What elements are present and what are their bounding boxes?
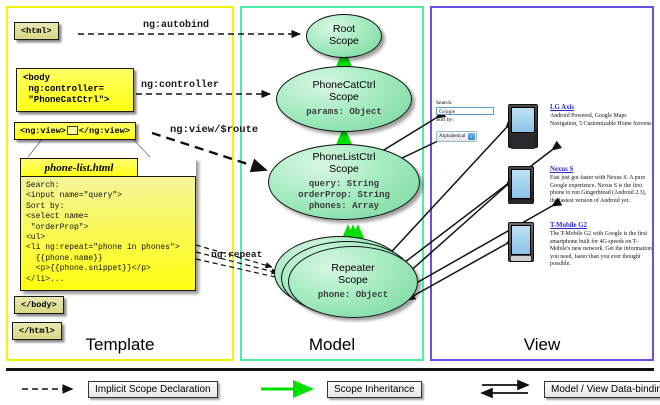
phone-thumbnail-t-mobile-g2 — [508, 222, 534, 262]
scope-repeater-line1: Repeater — [331, 262, 374, 274]
scope-repeater-line2: Scope — [338, 274, 368, 286]
phone-name-link[interactable]: T-Mobile G2 — [550, 222, 654, 229]
legend: Implicit Scope Declaration Scope Inherit… — [6, 378, 654, 400]
note-title: phone-list.html — [20, 158, 138, 176]
sort-select[interactable]: Alphabetical ↕ — [436, 131, 477, 142]
scope-phonecatctrl: PhoneCatCtrl Scope params: Object — [276, 66, 412, 132]
legend-label-implicit-scope: Implicit Scope Declaration — [88, 381, 218, 398]
phone-snippet: Fast just got faster with Nexus S. A pur… — [550, 175, 654, 205]
scope-repeater: Repeater Scope phone: Object — [288, 246, 418, 318]
scope-phonecatctrl-title: PhoneCatCtrl Scope — [312, 80, 375, 104]
scope-phonelistctrl-line2: Scope — [329, 163, 359, 175]
html-close-tag: </html> — [12, 322, 62, 340]
body-close-tag: </body> — [14, 296, 64, 314]
phone-list-template-note: phone-list.html Search: <input name="que… — [20, 158, 196, 291]
panel-label-view: View — [432, 335, 652, 355]
phone-name-link[interactable]: LG Axis — [550, 104, 654, 111]
scope-root-line2: Scope — [329, 35, 359, 47]
scope-root-title: Root Scope — [329, 24, 359, 48]
legend-item-data-binding: Model / View Data-binding — [476, 378, 660, 400]
legend-label-scope-inheritance: Scope Inheritance — [327, 381, 422, 398]
ng-view-open: <ng:view> — [20, 126, 66, 136]
sort-select-value: Alphabetical — [439, 133, 466, 139]
chevron-down-icon: ↕ — [468, 133, 475, 140]
ng-view-slot-icon — [67, 126, 78, 135]
scope-phonecatctrl-line1: PhoneCatCtrl — [312, 79, 375, 91]
label-ng-autobind: ng:autobind — [143, 20, 209, 31]
phone-thumbnail-nexus-s — [508, 166, 534, 204]
scope-root: Root Scope — [306, 14, 382, 58]
scope-repeater-title: Repeater Scope — [331, 263, 374, 287]
label-ng-repeat: ng:repeat — [211, 249, 262, 260]
panel-label-model: Model — [242, 335, 422, 355]
legend-item-implicit-scope: Implicit Scope Declaration — [20, 378, 218, 400]
html-open-tag: <html> — [14, 22, 59, 40]
ng-view-close: </ng:view> — [79, 126, 130, 136]
legend-item-scope-inheritance: Scope Inheritance — [259, 378, 422, 400]
legend-label-data-binding: Model / View Data-binding — [544, 381, 660, 398]
green-arrow-icon — [259, 378, 321, 400]
scope-phonelistctrl-line1: PhoneListCtrl — [312, 151, 375, 163]
phone-search-form: Search: Google Sort by: Alphabetical ↕ — [436, 100, 494, 142]
double-arrow-icon — [476, 378, 538, 400]
label-ng-view-route: ng:view/$route — [170, 124, 258, 136]
phone-thumbnail-lg-axis — [508, 104, 538, 148]
legend-divider — [6, 368, 654, 371]
scope-phonelistctrl-title: PhoneListCtrl Scope — [312, 152, 375, 176]
scope-phonecatctrl-line2: Scope — [329, 91, 359, 103]
scope-phonecatctrl-props: params: Object — [306, 107, 382, 118]
phone-snippet: The T-Mobile G2 with Google is the first… — [550, 231, 654, 269]
phone-snippet: Android Powered, Google Maps Navigation,… — [550, 113, 654, 128]
scope-root-line1: Root — [333, 23, 355, 35]
sort-label: Sort by: — [436, 117, 494, 123]
dashed-arrow-icon — [20, 378, 82, 400]
scope-repeater-props: phone: Object — [318, 290, 388, 301]
search-label: Search: — [436, 100, 494, 106]
phone-list-item[interactable]: Nexus S Fast just got faster with Nexus … — [508, 166, 654, 205]
diagram-canvas: Template Model View — [0, 0, 660, 405]
label-ng-controller: ng:controller — [141, 80, 219, 91]
search-input[interactable]: Google — [436, 107, 494, 115]
ng-view-tag: <ng:view></ng:view> — [14, 122, 136, 140]
phone-list-item[interactable]: LG Axis Android Powered, Google Maps Nav… — [508, 104, 654, 128]
body-open-tag: <body ng:controller= "PhoneCatCtrl"> — [16, 68, 134, 112]
scope-phonelistctrl-props: query: String orderProp: String phones: … — [298, 179, 390, 212]
scope-phonelistctrl: PhoneListCtrl Scope query: String orderP… — [268, 144, 420, 220]
phone-list-item[interactable]: T-Mobile G2 The T-Mobile G2 with Google … — [508, 222, 654, 269]
phone-name-link[interactable]: Nexus S — [550, 166, 654, 173]
note-code: Search: <input name="query"> Sort by: <s… — [20, 176, 196, 291]
